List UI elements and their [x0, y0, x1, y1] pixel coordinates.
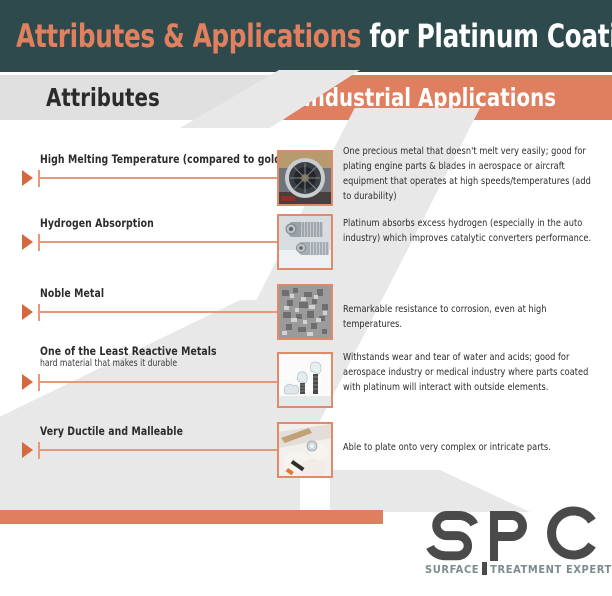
row-bullet-arrow-icon [22, 304, 33, 320]
row-thumbnail-jewelry-plating-hand-photo [277, 422, 333, 478]
page-title-plain: for Platinum Coatings [361, 17, 612, 55]
row-connector-line [40, 449, 278, 451]
row-bullet-arrow-icon [22, 234, 33, 250]
row-description: Platinum absorbs excess hydrogen (especi… [343, 216, 592, 246]
tagline-left: SURFACE [425, 563, 479, 576]
row-bullet-arrow-icon [22, 170, 33, 186]
row-thumbnail-spark-plugs-photo [277, 214, 333, 270]
row-description: One precious metal that doesn't melt ver… [343, 144, 592, 204]
row-thumbnail-dental-implants-photo [277, 352, 333, 408]
row-description: Withstands wear and tear of water and ac… [343, 350, 592, 395]
attributes-column-label: Attributes [46, 81, 160, 114]
attribute-title: High Melting Temperature (compared to go… [40, 152, 285, 166]
attribute-title: Noble Metal [40, 286, 104, 300]
attribute-title: Very Ductile and Malleable [40, 424, 183, 438]
tagline-separator [482, 562, 487, 575]
row-bullet-arrow-icon [22, 374, 33, 390]
table-row: High Melting Temperature (compared to go… [0, 140, 612, 210]
spc-logo-tagline: SURFACETREATMENT EXPERTS [425, 562, 601, 576]
spc-logo: SURFACETREATMENT EXPERTS [424, 505, 600, 585]
row-connector-line [40, 177, 278, 179]
row-bullet-arrow-icon [22, 442, 33, 458]
header-bar: Attributes & Applications for Platinum C… [0, 0, 612, 72]
footer-accent-bar [0, 510, 383, 524]
row-connector-line [40, 311, 278, 313]
table-row: Hydrogen Absorption [0, 212, 612, 272]
table-row: Noble Metal [0, 282, 612, 342]
tagline-right: TREATMENT EXPERTS [490, 563, 612, 576]
spc-logo-mark-icon [424, 505, 600, 563]
attribute-title: One of the Least Reactive Metals [40, 344, 217, 358]
attribute-title: Hydrogen Absorption [40, 216, 154, 230]
page-title: Attributes & Applications for Platinum C… [16, 17, 612, 55]
table-row: Very Ductile and Malleable [0, 420, 612, 480]
row-connector-line [40, 381, 278, 383]
row-thumbnail-jet-engine-turbine-photo [277, 150, 333, 206]
row-description: Remarkable resistance to corrosion, even… [343, 302, 592, 332]
row-connector-line [40, 241, 278, 243]
row-thumbnail-platinum-ore-texture-photo [277, 284, 333, 340]
attribute-subtitle: hard material that makes it durable [40, 358, 177, 370]
table-row: One of the Least Reactive Metals hard ma… [0, 344, 612, 416]
page-title-accent: Attributes & Applications [16, 17, 361, 55]
row-description: Able to plate onto very complex or intri… [343, 440, 592, 455]
infographic-root: Attributes & Applications for Platinum C… [0, 0, 612, 596]
attribute-rows: High Melting Temperature (compared to go… [0, 120, 612, 495]
